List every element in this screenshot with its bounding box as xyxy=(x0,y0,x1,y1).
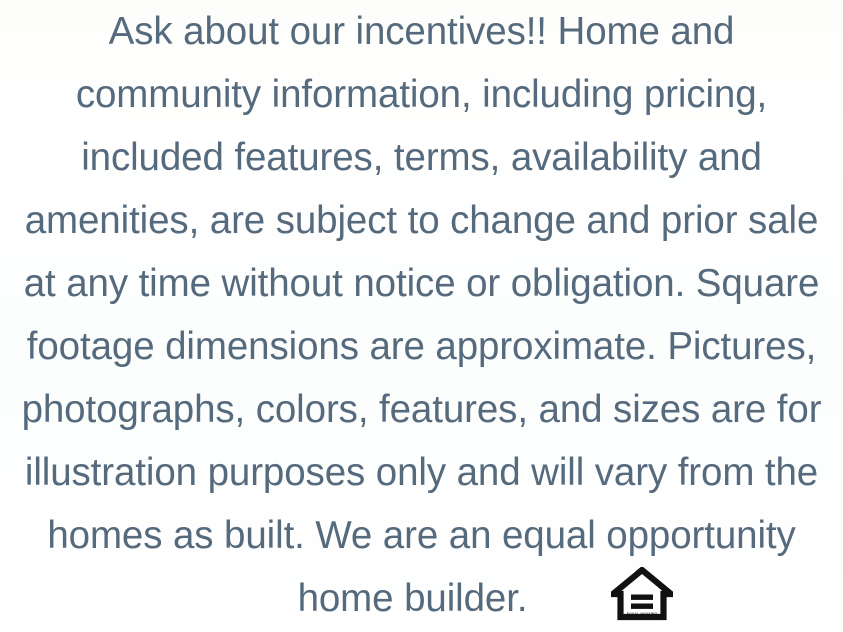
disclaimer-line: included features, terms, availability a… xyxy=(0,126,843,189)
disclaimer-line: homes as built. We are an equal opportun… xyxy=(0,504,843,567)
disclaimer-line: amenities, are subject to change and pri… xyxy=(0,189,843,252)
disclaimer-text-block: Ask about our incentives!! Home and comm… xyxy=(0,0,843,630)
disclaimer-line: home builder. xyxy=(0,567,843,630)
disclaimer-line: at any time without notice or obligation… xyxy=(0,252,843,315)
disclaimer-line: photographs, colors, features, and sizes… xyxy=(0,378,843,441)
disclaimer-line: footage dimensions are approximate. Pict… xyxy=(0,315,843,378)
disclaimer-line: illustration purposes only and will vary… xyxy=(0,441,843,504)
eho-caption-line-2: OPPORTUNITY xyxy=(608,617,676,622)
disclaimer-line: community information, including pricing… xyxy=(0,63,843,126)
disclaimer-line: Ask about our incentives!! Home and xyxy=(0,0,843,63)
equal-housing-opportunity-caption: EQUAL HOUSING OPPORTUNITY xyxy=(608,612,676,627)
disclaimer-page: Ask about our incentives!! Home and comm… xyxy=(0,0,843,632)
